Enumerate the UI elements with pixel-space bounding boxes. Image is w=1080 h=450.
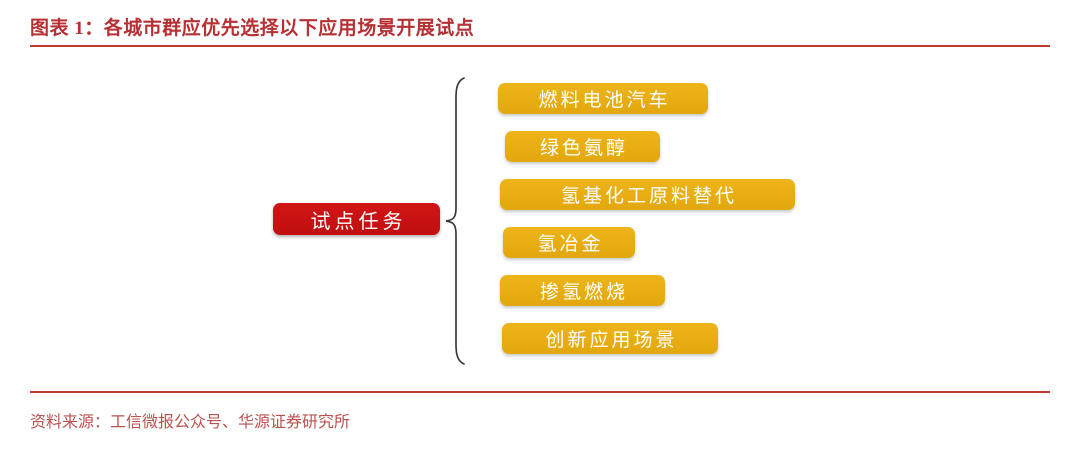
leaf-node-6[interactable]: 创新应用场景 xyxy=(502,323,718,354)
root-node-pilot-tasks[interactable]: 试点任务 xyxy=(273,203,440,235)
page-title: 图表 1：各城市群应优先选择以下应用场景开展试点 xyxy=(30,13,474,40)
leaf-node-4[interactable]: 氢冶金 xyxy=(503,227,635,258)
leaf-node-1[interactable]: 燃料电池汽车 xyxy=(498,83,708,114)
leaf-node-6-label: 创新应用场景 xyxy=(542,325,677,352)
source-divider xyxy=(30,391,1050,393)
leaf-node-1-label: 燃料电池汽车 xyxy=(535,85,670,112)
leaf-node-3[interactable]: 氢基化工原料替代 xyxy=(500,179,795,210)
leaf-node-2[interactable]: 绿色氨醇 xyxy=(505,131,660,162)
root-node-label: 试点任务 xyxy=(307,205,407,234)
leaf-node-3-label: 氢基化工原料替代 xyxy=(558,181,737,208)
title-divider xyxy=(30,45,1050,47)
leaf-node-4-label: 氢冶金 xyxy=(534,229,603,256)
source-note: 资料来源：工信微报公众号、华源证券研究所 xyxy=(30,408,350,432)
curly-brace-icon xyxy=(444,76,468,366)
figure-panel: 图表 1：各城市群应优先选择以下应用场景开展试点 试点任务 燃料电池汽车 绿色氨… xyxy=(0,0,1080,450)
bracket-tree-diagram: 试点任务 燃料电池汽车 绿色氨醇 氢基化工原料替代 氢冶金 掺氢燃烧 创新应用场… xyxy=(0,60,1080,380)
leaf-node-5-label: 掺氢燃烧 xyxy=(537,277,628,304)
leaf-node-2-label: 绿色氨醇 xyxy=(537,133,628,160)
leaf-node-5[interactable]: 掺氢燃烧 xyxy=(500,275,665,306)
